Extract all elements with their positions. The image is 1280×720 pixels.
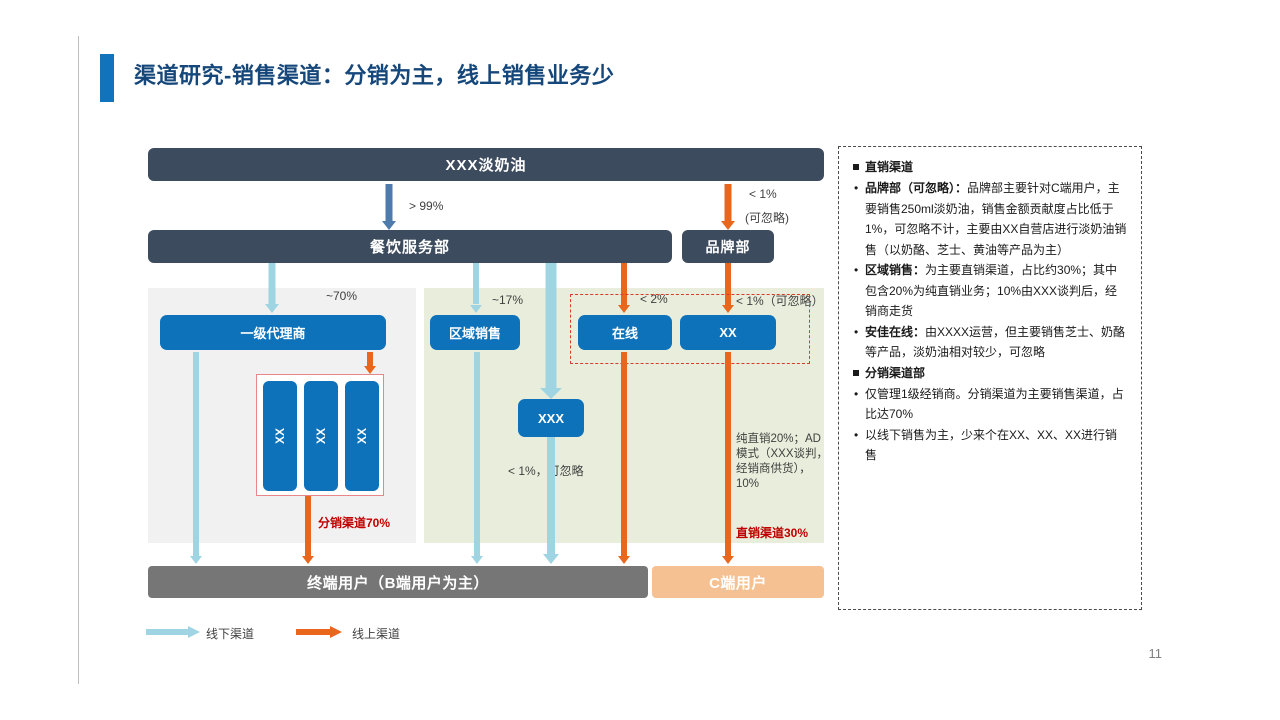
node-sub-dealer-2[interactable]: XX: [304, 381, 338, 491]
sub-dealer-2-label: XX: [314, 428, 328, 444]
note-item-brand-dept-bold: 品牌部（可忽略）：: [865, 181, 967, 195]
arrow-product-to-food-service: [382, 184, 396, 230]
legend-online-arrow-icon: [296, 626, 352, 638]
arrow-food-service-to-xxx: [540, 263, 562, 399]
node-brand-dept[interactable]: 品牌部: [682, 230, 774, 263]
arrow-subdealers-to-end-user: [302, 496, 314, 564]
label-approx-17-percent: ~17%: [492, 293, 523, 307]
arrow-product-to-brand-dept: [721, 184, 735, 230]
sub-dealer-group: XX XX XX: [256, 374, 384, 496]
label-lt-1-percent-ignorable: (可忽略): [745, 209, 789, 226]
arrow-food-service-to-agent: [265, 263, 279, 313]
notes-heading-direct: 直销渠道: [851, 157, 1129, 177]
note-item-anchor-online-bold: 安佳在线：: [865, 325, 925, 339]
note-item-level1-dealer: 仅管理1级经销商。分销渠道为主要销售渠道，占比达70%: [851, 384, 1129, 425]
notes-heading-distribution: 分销渠道部: [851, 363, 1129, 383]
arrow-xx-to-c-user: [722, 352, 734, 564]
arrow-agent-to-end-user: [190, 352, 202, 564]
node-c-end-user[interactable]: C端用户: [652, 566, 824, 598]
sub-dealer-3-label: XX: [355, 428, 369, 444]
note-item-level1-dealer-text: 仅管理1级经销商。分销渠道为主要销售渠道，占比达70%: [865, 387, 1124, 422]
note-item-anchor-online: 安佳在线：由XXXX运营，但主要销售芝士、奶酪等产品，淡奶油相对较少，可忽略: [851, 322, 1129, 363]
legend-offline-arrow-icon: [146, 626, 202, 638]
label-distribution-channel-70: 分销渠道70%: [318, 514, 390, 531]
node-end-user[interactable]: 终端用户（B端用户为主）: [148, 566, 648, 598]
title-accent-bar: [100, 54, 114, 102]
node-food-service-dept[interactable]: 餐饮服务部: [148, 230, 672, 263]
label-lt-1-percent: < 1%: [749, 187, 777, 201]
node-xxx[interactable]: XXX: [518, 399, 584, 437]
legend-offline-label: 线下渠道: [206, 625, 254, 642]
note-item-region-sales: 区域销售：为主要直销渠道，占比约30%；其中包含20%为纯直销业务；10%由XX…: [851, 260, 1129, 322]
arrow-xxx-to-end-user: [543, 437, 559, 564]
arrow-online-to-end-user: [618, 352, 630, 564]
node-region-sales[interactable]: 区域销售: [430, 315, 520, 350]
arrow-food-service-to-region-sales: [470, 263, 482, 313]
note-item-offline-sales-text: 以线下销售为主，少来个在XX、XX、XX进行销售: [865, 428, 1117, 463]
node-level-1-agent[interactable]: 一级代理商: [160, 315, 386, 350]
label-approx-70-percent: ~70%: [326, 289, 357, 303]
node-xx[interactable]: XX: [680, 315, 776, 350]
legend-online-label: 线上渠道: [352, 625, 400, 642]
slide: 渠道研究-销售渠道：分销为主，线上销售业务少 XXX淡奶油 餐饮服务部 品牌部 …: [0, 0, 1280, 720]
note-item-offline-sales: 以线下销售为主，少来个在XX、XX、XX进行销售: [851, 425, 1129, 466]
label-gt-99-percent: > 99%: [409, 199, 443, 213]
arrow-agent-to-subdealers: [363, 352, 377, 374]
node-sub-dealer-3[interactable]: XX: [345, 381, 379, 491]
node-product[interactable]: XXX淡奶油: [148, 148, 824, 181]
label-direct-channel-30: 直销渠道30%: [736, 524, 808, 541]
note-item-brand-dept: 品牌部（可忽略）：品牌部主要针对C端用户，主要销售250ml淡奶油，销售金额贡献…: [851, 178, 1129, 260]
arrow-region-sales-to-end-user: [471, 352, 483, 564]
note-item-region-sales-bold: 区域销售：: [865, 263, 925, 277]
node-online[interactable]: 在线: [578, 315, 672, 350]
page-title: 渠道研究-销售渠道：分销为主，线上销售业务少: [134, 58, 614, 90]
page-number: 11: [1149, 646, 1163, 661]
left-vertical-rule: [78, 36, 79, 684]
sub-dealer-1-label: XX: [273, 428, 287, 444]
direct-sales-note: 纯直销20%；AD模式（XXX谈判，经销商供货），10%: [736, 432, 832, 492]
node-sub-dealer-1[interactable]: XX: [263, 381, 297, 491]
annotations-panel: 直销渠道 品牌部（可忽略）：品牌部主要针对C端用户，主要销售250ml淡奶油，销…: [838, 146, 1142, 610]
